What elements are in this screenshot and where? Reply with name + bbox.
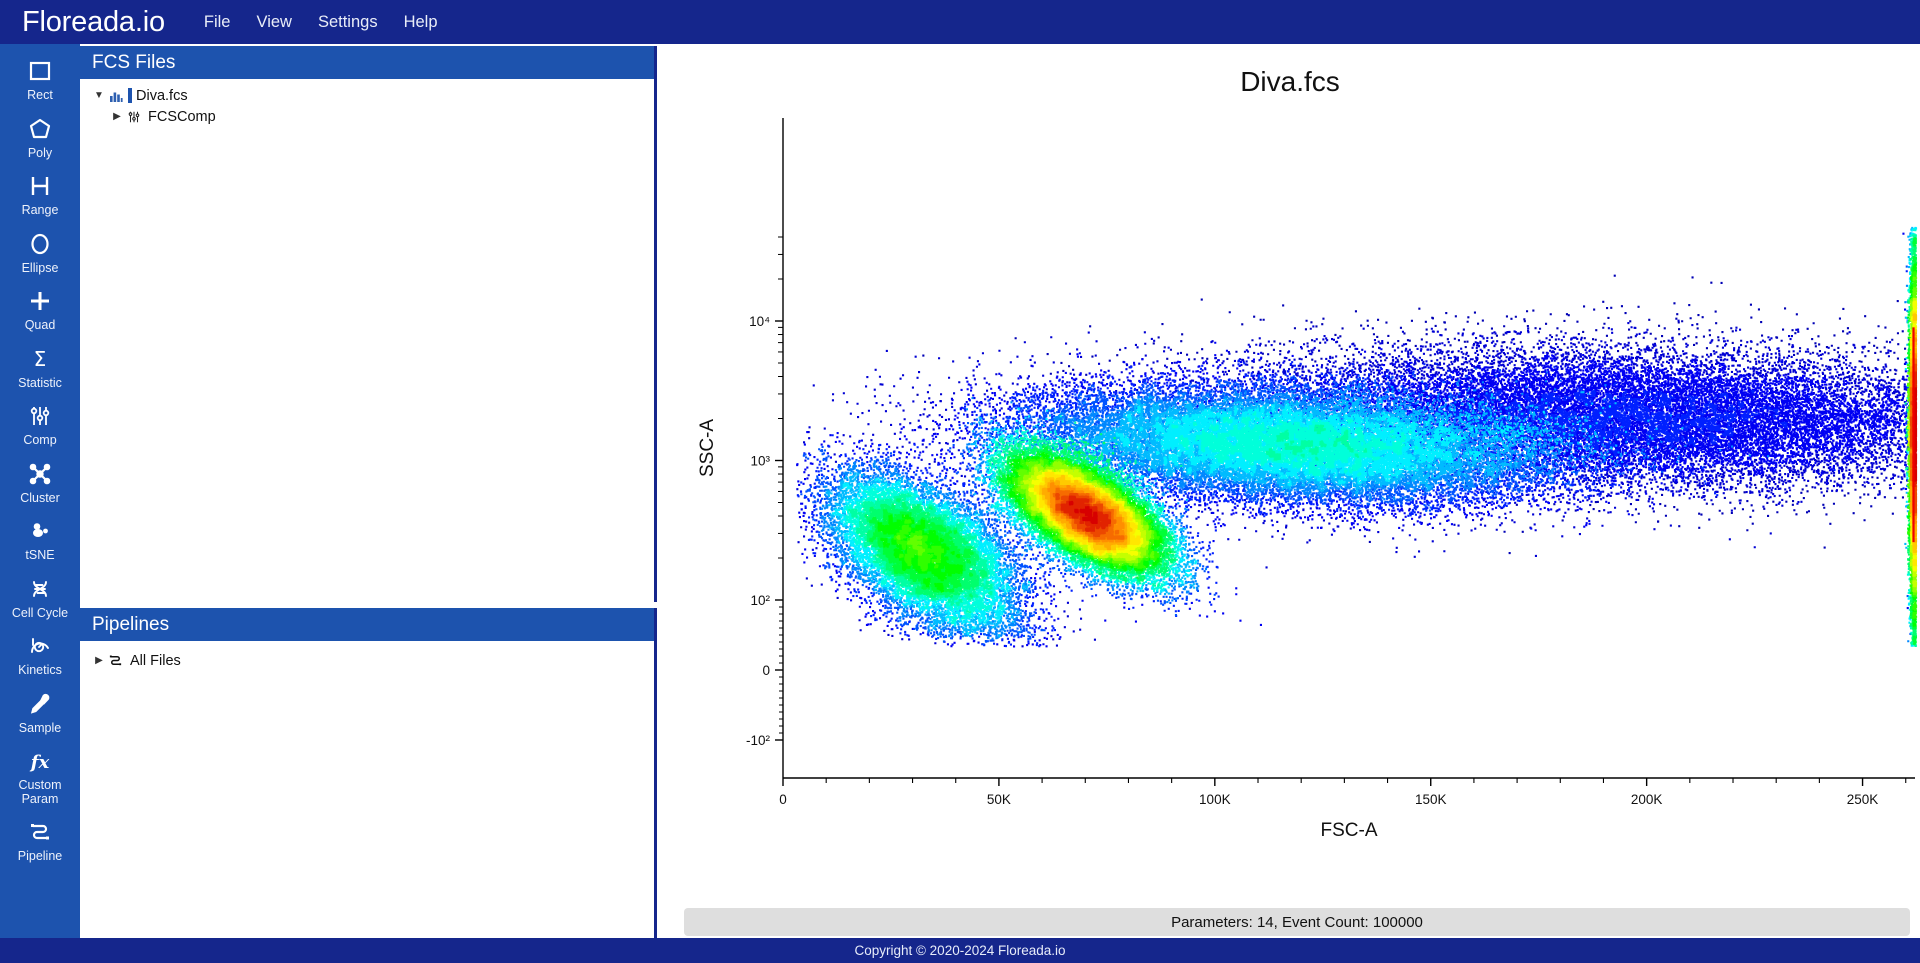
pipelines-panel-title: Pipelines [80,608,654,641]
svg-text:fx: fx [29,752,50,773]
sliders-icon [23,401,57,431]
svg-text:150K: 150K [1415,792,1447,807]
status-bar-wrap: Parameters: 14, Event Count: 100000 [684,908,1910,936]
footer-copyright: Copyright © 2020-2024 Floreada.io [0,938,1920,963]
app-logo: Floreada.io [22,6,165,39]
tool-cell-cycle-label: Cell Cycle [12,607,68,621]
tree-item-diva-fcs[interactable]: ▼ Diva.fcs [80,85,654,106]
rectangle-icon [23,56,57,86]
tool-kinetics-label: Kinetics [18,664,62,678]
tool-range-label: Range [22,204,59,218]
tool-comp-label: Comp [23,434,56,448]
tool-cluster-label: Cluster [20,492,60,506]
tool-rect[interactable]: Rect [0,56,80,103]
tool-statistic[interactable]: Σ Statistic [0,344,80,391]
tool-quad-label: Quad [25,319,56,333]
tsne-icon [23,516,57,546]
svg-text:Σ: Σ [34,347,47,371]
svg-text:200K: 200K [1631,792,1663,807]
tool-range[interactable]: Range [0,171,80,218]
svg-text:SSC-A: SSC-A [697,419,718,477]
pipeline-icon [106,653,125,668]
status-bar: Parameters: 14, Event Count: 100000 [684,908,1910,936]
tool-tsne-label: tSNE [25,549,54,563]
tool-statistic-label: Statistic [18,377,62,391]
tool-ellipse[interactable]: Ellipse [0,229,80,276]
svg-text:0: 0 [762,663,770,678]
tree-item-label: FCSComp [148,109,216,125]
svg-text:10³: 10³ [750,454,770,469]
tool-custom-param[interactable]: fx Custom Param [0,746,80,806]
pipette-icon [23,689,57,719]
selection-marker [128,88,132,103]
fcs-files-panel: FCS Files ▼ Diva.fcs ▶ [80,46,657,602]
menu-item-view[interactable]: View [243,9,304,36]
svg-text:250K: 250K [1847,792,1879,807]
tool-rect-label: Rect [27,89,53,103]
svg-text:10²: 10² [750,593,770,608]
range-icon [23,171,57,201]
svg-text:0: 0 [779,792,787,807]
dna-icon [23,574,57,604]
tool-rail: Rect Poly Range Ellipse Quad [0,44,80,944]
fx-icon: fx [23,746,57,776]
svg-text:-10²: -10² [746,733,771,748]
tool-poly[interactable]: Poly [0,114,80,161]
sliders-icon [124,110,143,124]
histogram-icon [106,89,125,103]
tool-cluster[interactable]: Cluster [0,459,80,506]
plot-area[interactable]: Diva.fcs 050K100K150K200K250K10⁴10³10²0-… [660,46,1920,898]
tool-ellipse-label: Ellipse [22,262,59,276]
tool-poly-label: Poly [28,147,52,161]
svg-text:100K: 100K [1199,792,1231,807]
tree-item-fcscomp[interactable]: ▶ FCSComp [80,106,654,127]
kinetics-icon [23,631,57,661]
tool-kinetics[interactable]: Kinetics [0,631,80,678]
menu-item-file[interactable]: File [191,9,244,36]
tree-item-label: Diva.fcs [136,88,188,104]
polygon-icon [23,114,57,144]
quadrant-icon [23,286,57,316]
twisty-icon[interactable]: ▶ [110,106,124,127]
twisty-icon[interactable]: ▼ [92,85,106,106]
svg-text:10⁴: 10⁴ [749,314,770,329]
svg-text:FSC-A: FSC-A [1321,820,1378,841]
cluster-icon [23,459,57,489]
tool-quad[interactable]: Quad [0,286,80,333]
tool-custom-param-label: Custom Param [1,779,79,806]
tree-item-label: All Files [130,653,181,669]
tool-sample[interactable]: Sample [0,689,80,736]
sigma-icon: Σ [23,344,57,374]
tree-item-all-files[interactable]: ▶ All Files [80,650,654,671]
tool-pipeline-label: Pipeline [18,850,62,864]
tool-cell-cycle[interactable]: Cell Cycle [0,574,80,621]
tool-comp[interactable]: Comp [0,401,80,448]
top-menu-bar: Floreada.io File View Settings Help [0,0,1920,44]
tool-tsne[interactable]: tSNE [0,516,80,563]
fcs-files-panel-title: FCS Files [80,46,654,79]
scatter-plot[interactable]: 050K100K150K200K250K10⁴10³10²0-10²FSC-AS… [660,46,1920,898]
menu-bar: File View Settings Help [191,9,451,36]
menu-item-help[interactable]: Help [391,9,451,36]
twisty-icon[interactable]: ▶ [92,650,106,671]
pipelines-panel: Pipelines ▶ All Files [80,608,657,944]
fcs-files-tree[interactable]: ▼ Diva.fcs ▶ [80,79,654,602]
tool-sample-label: Sample [19,722,61,736]
ellipse-icon [23,229,57,259]
menu-item-settings[interactable]: Settings [305,9,391,36]
tool-pipeline[interactable]: Pipeline [0,817,80,864]
pipeline-icon [23,817,57,847]
pipelines-tree[interactable]: ▶ All Files [80,641,654,944]
svg-text:50K: 50K [987,792,1011,807]
